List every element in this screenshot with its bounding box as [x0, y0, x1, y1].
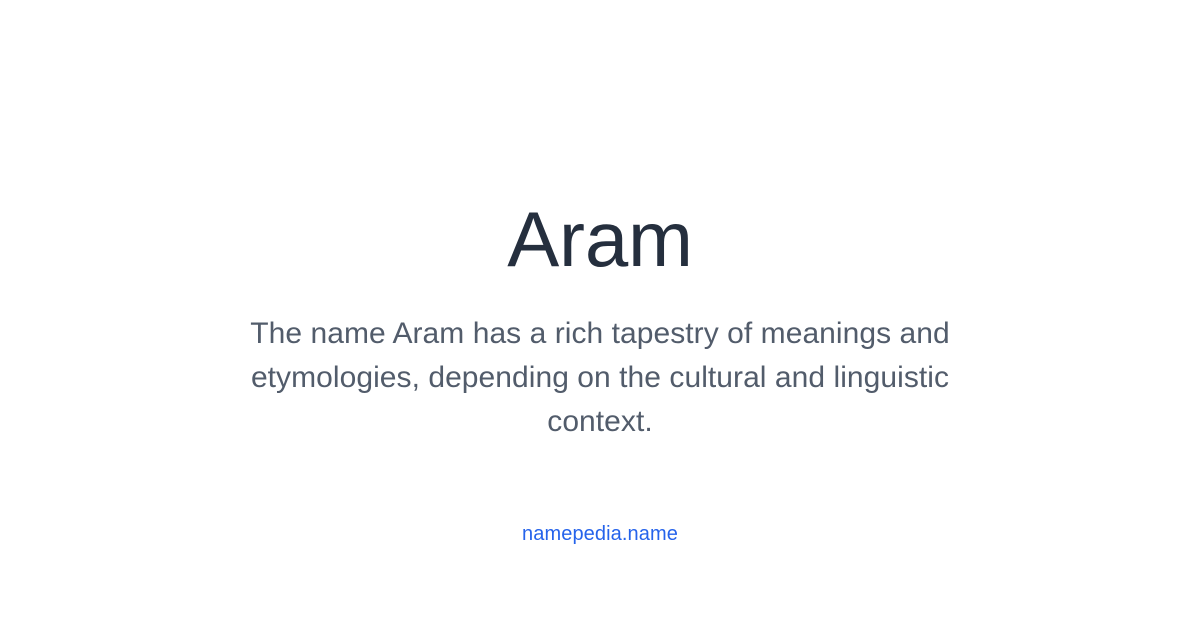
description-block: The name Aram has a rich tapestry of mea… — [200, 312, 1000, 444]
footer: namepedia.name — [0, 521, 1200, 547]
description-line: etymologies, depending on the cultural a… — [200, 356, 1000, 400]
page-title: Aram — [0, 193, 1200, 285]
site-link[interactable]: namepedia.name — [522, 523, 678, 545]
description-line: context. — [200, 400, 1000, 444]
name-meaning-share-card: Aram The name Aram has a rich tapestry o… — [0, 0, 1200, 630]
description-line: The name Aram has a rich tapestry of mea… — [200, 312, 1000, 356]
